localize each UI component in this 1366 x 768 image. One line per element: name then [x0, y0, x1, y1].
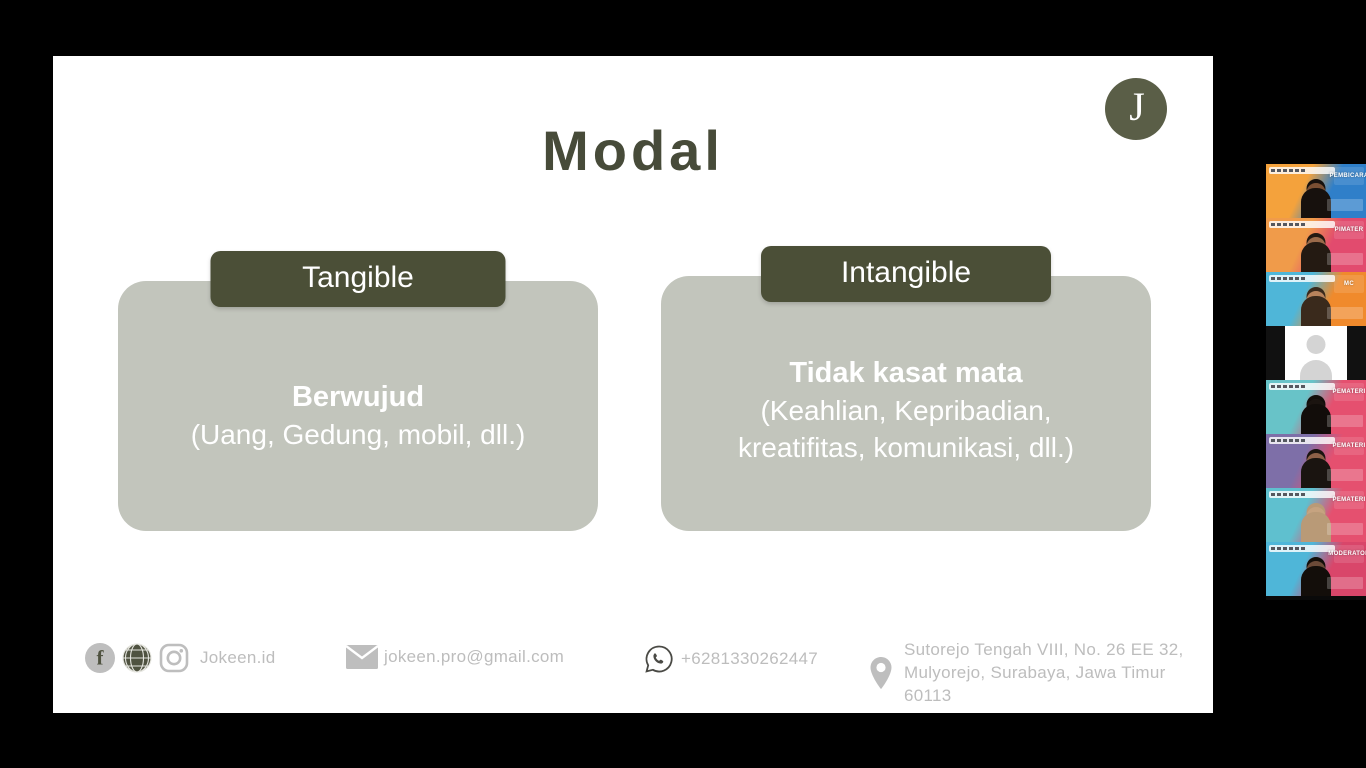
footer-phone-group: +6281330262447	[645, 645, 818, 673]
card-tangible-body: Berwujud (Uang, Gedung, mobil, dll.)	[118, 281, 598, 531]
card-intangible: Tidak kasat mata (Keahlian, Kepribadian,…	[661, 246, 1151, 531]
participant-tile[interactable]: PIMATER	[1266, 218, 1366, 272]
participant-toolbar[interactable]	[1269, 545, 1335, 552]
participant-tile[interactable]: PEMATERI	[1266, 434, 1366, 488]
footer-address-line2: Mulyorejo, Surabaya, Jawa Timur 60113	[904, 663, 1166, 705]
footer-address-group: Sutorejo Tengah VIII, No. 26 EE 32, Muly…	[868, 639, 1213, 708]
participant-tile[interactable]	[1266, 326, 1366, 380]
jokeen-logo: J	[1105, 78, 1167, 140]
participant-role-badge: PEMBICARA	[1334, 167, 1364, 185]
video-participant-strip[interactable]: PEMBICARAPIMATERMCPEMATERIPEMATERIPEMATE…	[1266, 164, 1366, 600]
participant-caption	[1327, 253, 1363, 265]
card-tangible-tab: Tangible	[211, 251, 506, 307]
card-intangible-subtext-line1: (Keahlian, Kepribadian,	[760, 393, 1051, 429]
participant-tile[interactable]: MC	[1266, 272, 1366, 326]
participant-caption	[1327, 523, 1363, 535]
card-tangible: Berwujud (Uang, Gedung, mobil, dll.) Tan…	[118, 251, 598, 531]
footer-social-group: Jokeen.id	[85, 643, 275, 673]
footer-address: Sutorejo Tengah VIII, No. 26 EE 32, Muly…	[904, 639, 1213, 708]
globe-icon[interactable]	[122, 643, 152, 673]
participant-caption	[1327, 199, 1363, 211]
presentation-slide: Modal J Berwujud (Uang, Gedung, mobil, d…	[53, 56, 1213, 713]
slide-footer: Jokeen.id jokeen.pro@gmail.com	[53, 639, 1213, 695]
participant-role-badge: PIMATER	[1334, 221, 1364, 239]
footer-phone: +6281330262447	[681, 649, 818, 669]
card-intangible-body: Tidak kasat mata (Keahlian, Kepribadian,…	[661, 276, 1151, 531]
facebook-icon[interactable]	[85, 643, 115, 673]
footer-email: jokeen.pro@gmail.com	[384, 647, 564, 667]
participant-toolbar[interactable]	[1269, 275, 1335, 282]
participant-role-badge: MODERATOR	[1334, 545, 1364, 563]
instagram-icon[interactable]	[159, 643, 189, 673]
participant-role-badge: PEMATERI	[1334, 437, 1364, 455]
card-intangible-heading: Tidak kasat mata	[789, 355, 1022, 391]
map-pin-icon[interactable]	[868, 656, 894, 690]
participant-toolbar[interactable]	[1269, 167, 1335, 174]
participant-tile[interactable]: PEMBICARA	[1266, 164, 1366, 218]
participant-caption	[1327, 469, 1363, 481]
whatsapp-icon[interactable]	[645, 645, 673, 673]
footer-social-handle: Jokeen.id	[200, 648, 275, 668]
card-intangible-subtext-line2: kreatifitas, komunikasi, dll.)	[738, 430, 1074, 466]
participant-caption	[1327, 577, 1363, 589]
participant-role-badge: PEMATERI	[1334, 383, 1364, 401]
participant-tile[interactable]: MODERATOR	[1266, 542, 1366, 596]
screen: Modal J Berwujud (Uang, Gedung, mobil, d…	[0, 0, 1366, 768]
participant-tile[interactable]: PEMATERI	[1266, 380, 1366, 434]
participant-caption	[1327, 415, 1363, 427]
card-tangible-heading: Berwujud	[292, 379, 424, 415]
card-intangible-tab: Intangible	[761, 246, 1051, 302]
participant-role-badge: PEMATERI	[1334, 491, 1364, 509]
participant-tile[interactable]: PEMATERI	[1266, 488, 1366, 542]
avatar	[1285, 326, 1347, 380]
participant-toolbar[interactable]	[1269, 221, 1335, 228]
card-tangible-subtext: (Uang, Gedung, mobil, dll.)	[191, 417, 526, 453]
page-title: Modal	[53, 118, 1213, 183]
logo-letter-icon: J	[1129, 87, 1145, 127]
participant-toolbar[interactable]	[1269, 383, 1335, 390]
participant-caption	[1327, 307, 1363, 319]
footer-email-group: jokeen.pro@gmail.com	[346, 645, 564, 669]
footer-address-line1: Sutorejo Tengah VIII, No. 26 EE 32,	[904, 640, 1184, 659]
participant-toolbar[interactable]	[1269, 491, 1335, 498]
mail-icon[interactable]	[346, 645, 378, 669]
participant-role-badge: MC	[1334, 275, 1364, 293]
participant-toolbar[interactable]	[1269, 437, 1335, 444]
